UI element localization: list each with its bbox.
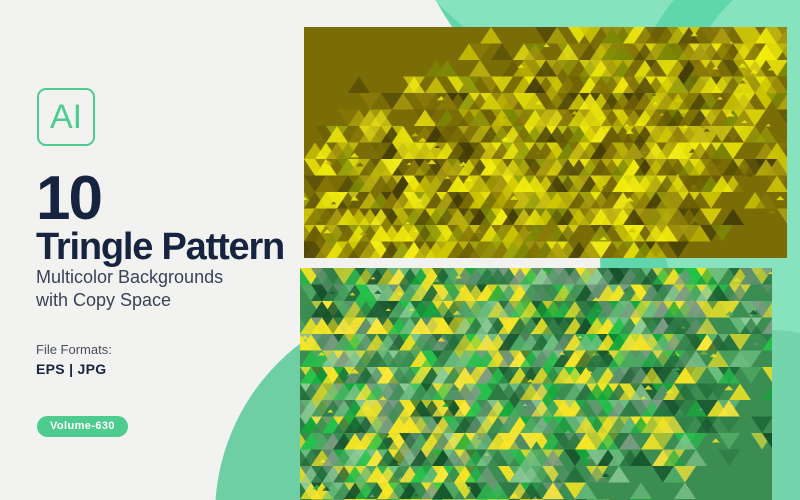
ai-badge-label: AI	[50, 100, 82, 134]
file-formats-value: EPS | JPG	[36, 361, 106, 377]
ai-format-badge: AI	[37, 88, 95, 146]
triangle-mosaic-green	[300, 268, 772, 500]
triangle-mosaic-olive	[304, 27, 787, 258]
subtitle-line-2: with Copy Space	[36, 289, 223, 312]
file-formats-label: File Formats:	[36, 342, 112, 357]
info-column: AI 10 Tringle Pattern Multicolor Backgro…	[0, 0, 300, 500]
page-subtitle: Multicolor Backgrounds with Copy Space	[36, 266, 223, 312]
item-count: 10	[36, 168, 101, 230]
page-title: Tringle Pattern	[36, 228, 284, 266]
volume-badge: Volume-630	[37, 416, 128, 437]
poster-canvas: AI 10 Tringle Pattern Multicolor Backgro…	[0, 0, 800, 500]
preview-thumbnail-green[interactable]	[300, 268, 772, 500]
preview-thumbnail-olive[interactable]	[304, 27, 787, 258]
subtitle-line-1: Multicolor Backgrounds	[36, 266, 223, 289]
